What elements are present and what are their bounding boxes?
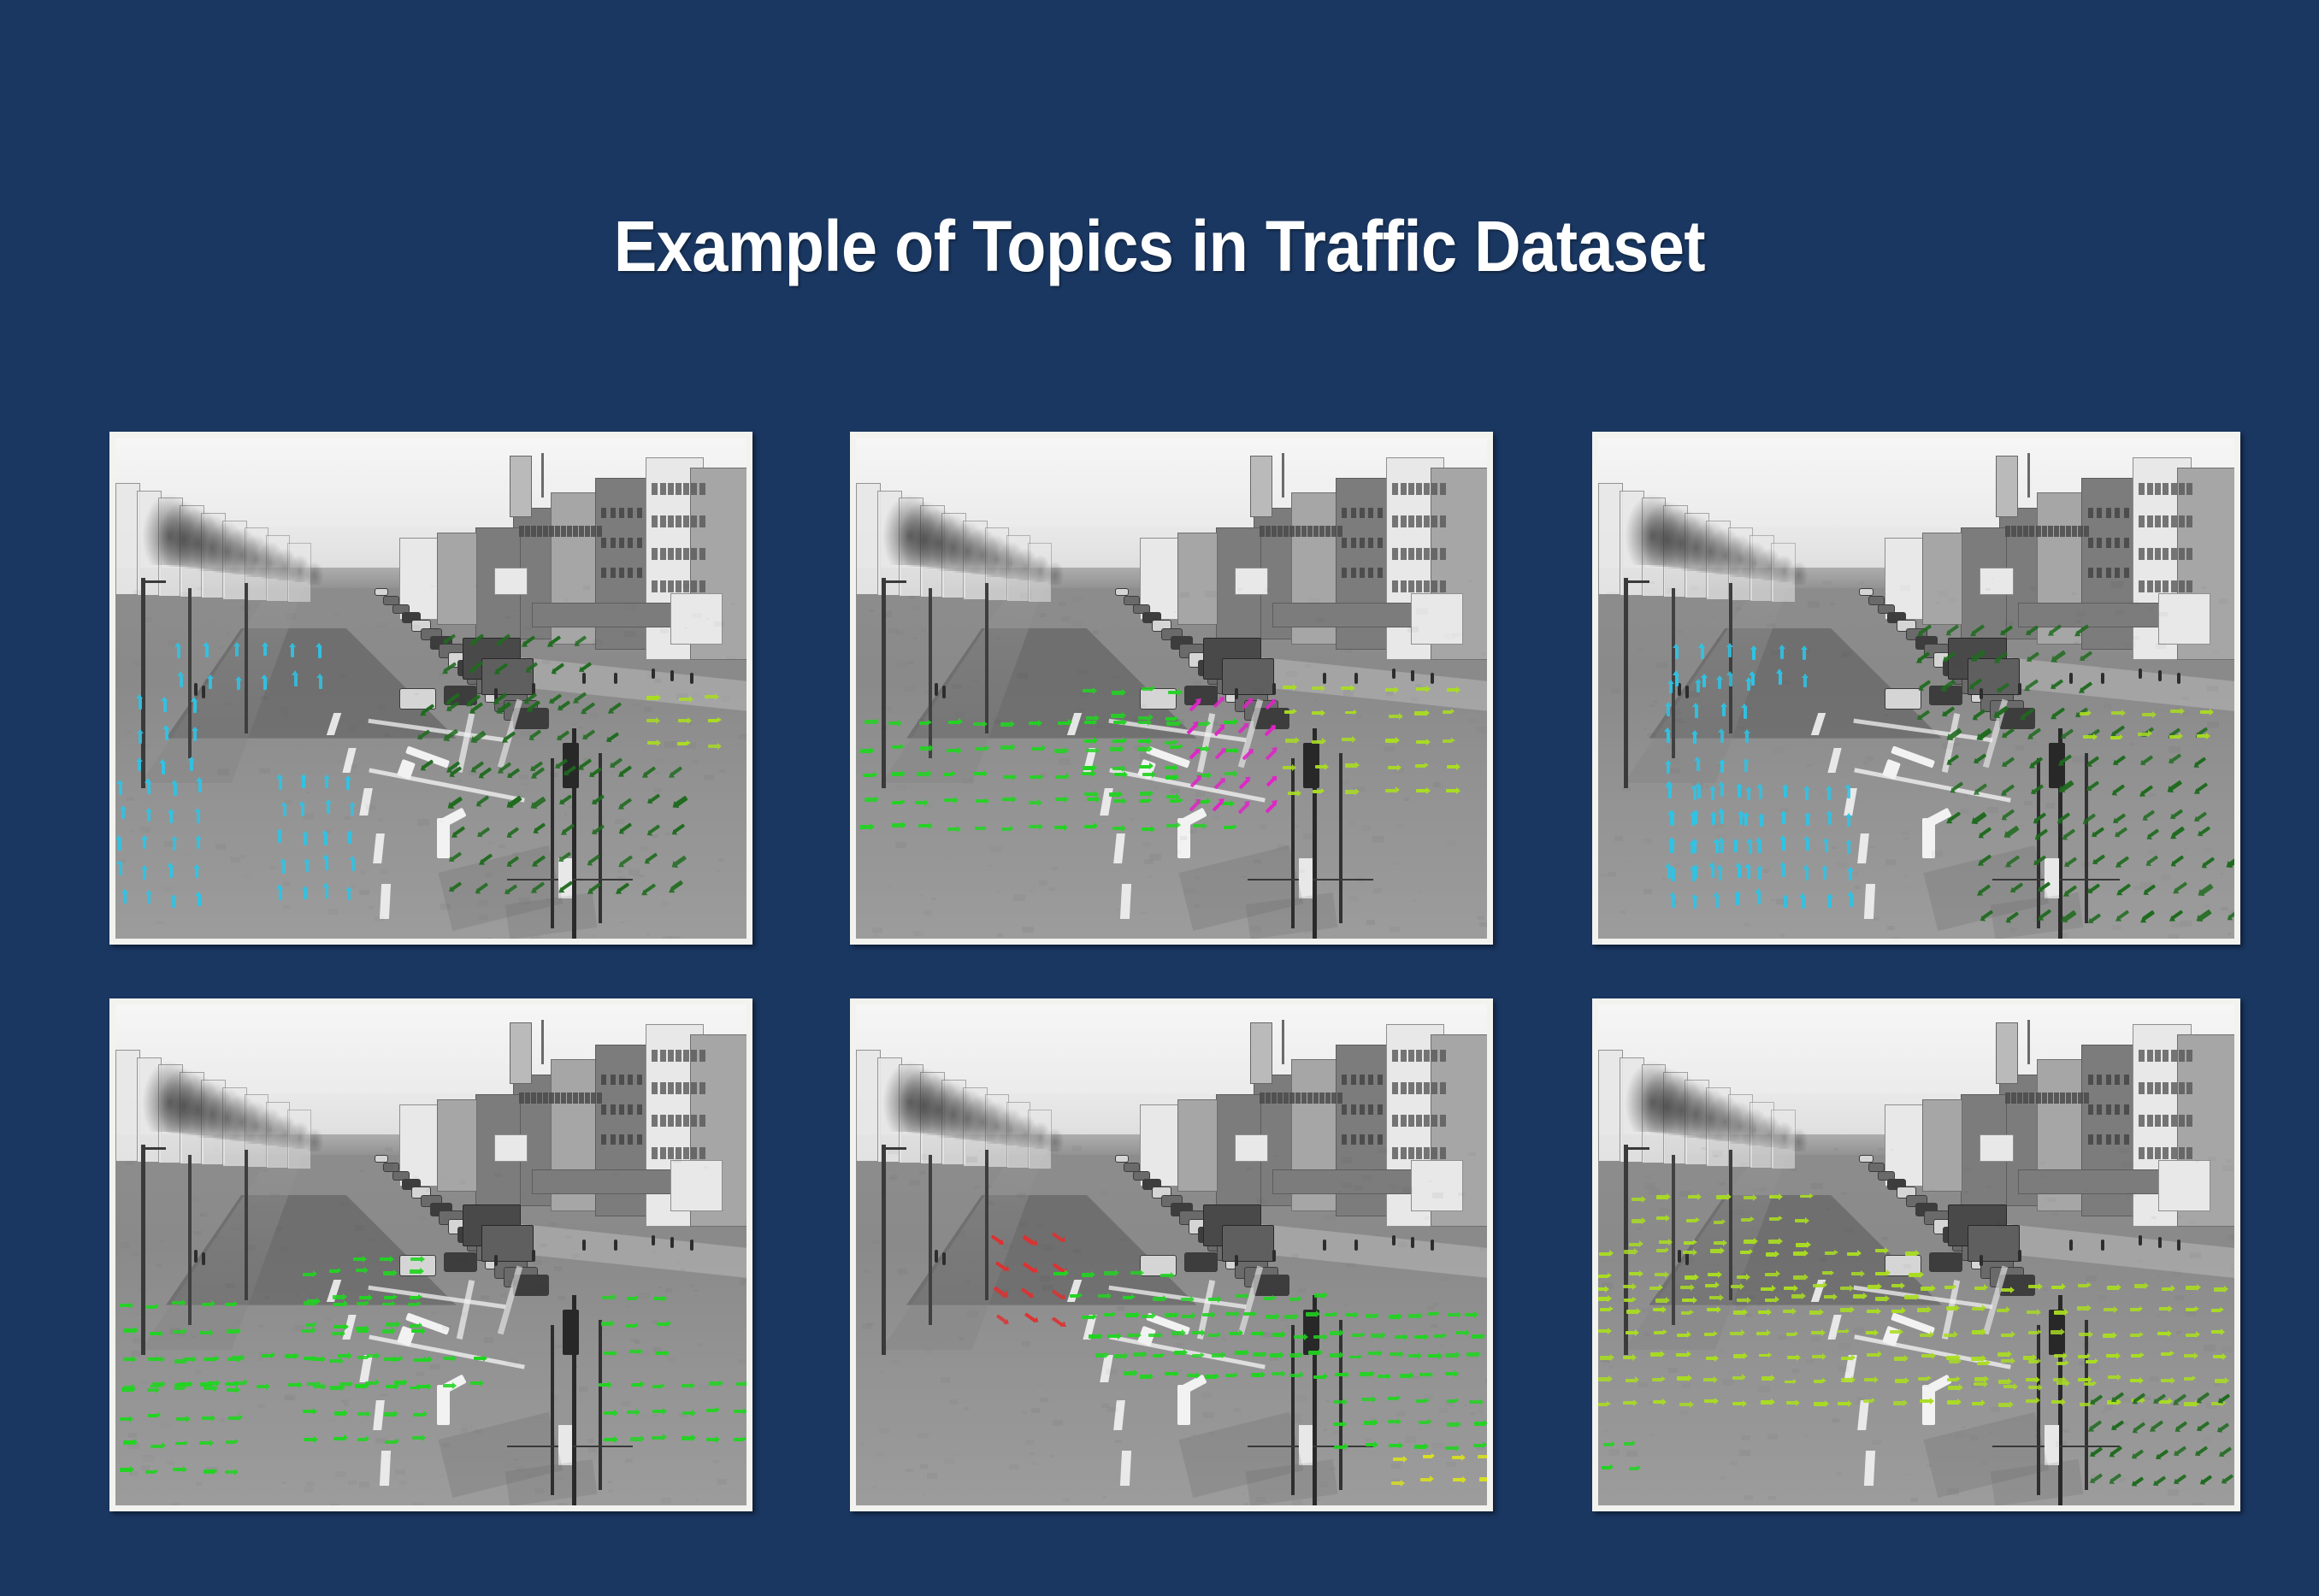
flow-overlay-3 <box>1598 438 2234 939</box>
flow-overlay-2 <box>856 438 1487 939</box>
topic-panel-4-image <box>115 1004 746 1505</box>
topic-panel-1[interactable] <box>109 432 752 945</box>
flow-overlay-5 <box>856 1004 1487 1505</box>
flow-overlay-4 <box>115 1004 746 1505</box>
flow-overlay-1 <box>115 438 746 939</box>
topic-panel-6[interactable] <box>1592 998 2240 1511</box>
topic-panel-5[interactable] <box>850 998 1493 1511</box>
slide-root: Example of Topics in Traffic Dataset <box>0 0 2319 1596</box>
topic-panel-grid <box>0 0 2319 1596</box>
topic-panel-5-image <box>856 1004 1487 1505</box>
topic-panel-6-image <box>1598 1004 2234 1505</box>
topic-panel-2[interactable] <box>850 432 1493 945</box>
topic-panel-3[interactable] <box>1592 432 2240 945</box>
flow-overlay-6 <box>1598 1004 2234 1505</box>
topic-panel-1-image <box>115 438 746 939</box>
topic-panel-4[interactable] <box>109 998 752 1511</box>
topic-panel-3-image <box>1598 438 2234 939</box>
topic-panel-2-image <box>856 438 1487 939</box>
